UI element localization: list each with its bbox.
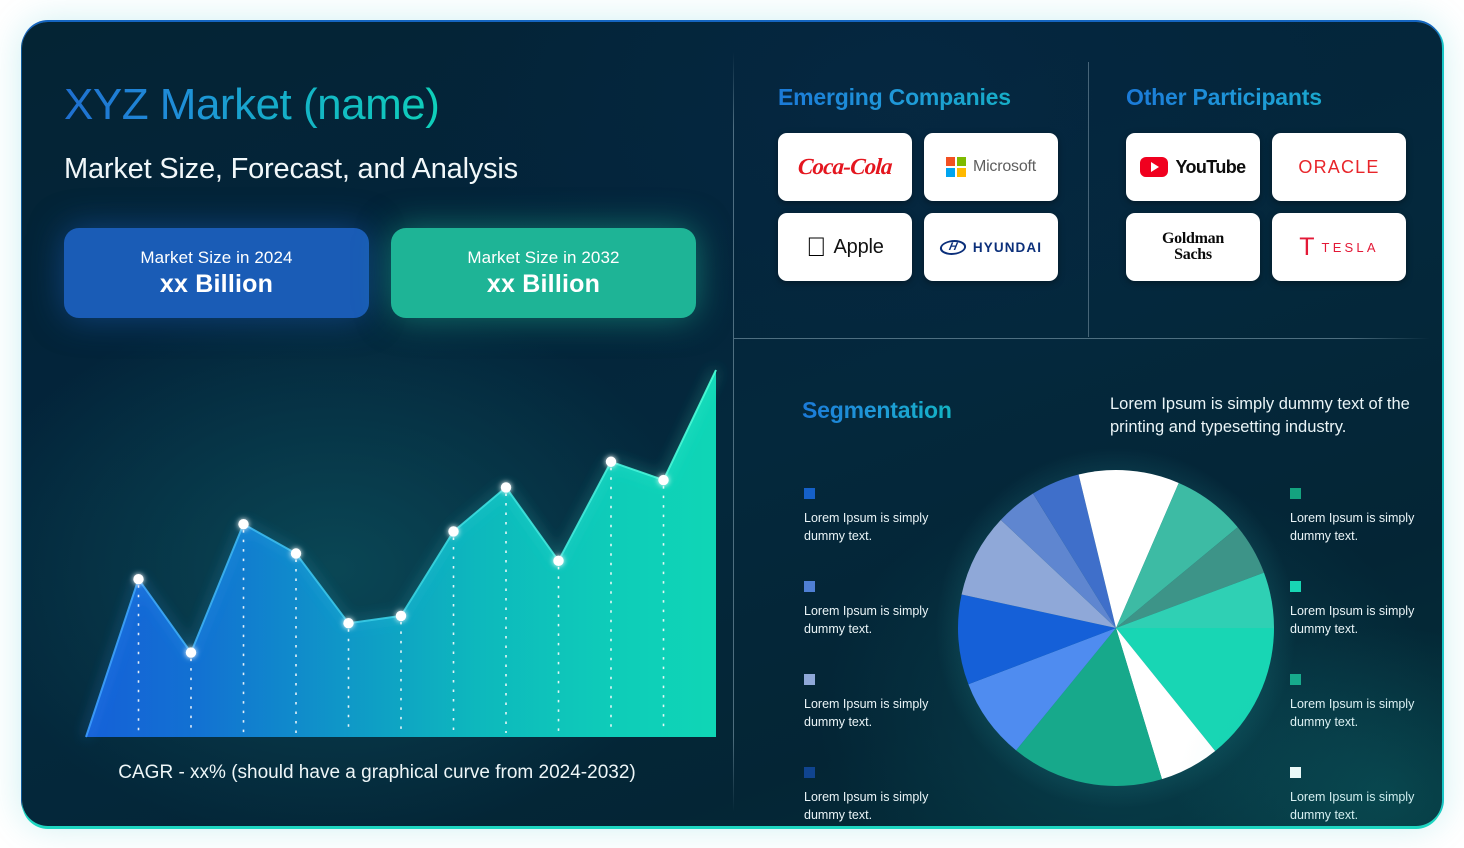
apple-label: Apple <box>834 236 884 259</box>
data-point-marker <box>658 475 668 485</box>
market-size-2024-label: Market Size in 2024 <box>140 248 292 268</box>
hyundai-logo: H <box>938 240 967 255</box>
legend-label: Lorem Ipsum is simply dummy text. <box>804 790 928 822</box>
page-title: XYZ Market (name) <box>64 80 439 130</box>
legend-label: Lorem Ipsum is simply dummy text. <box>1290 604 1414 636</box>
legend-item[interactable]: Lorem Ipsum is simply dummy text. <box>804 581 944 638</box>
youtube-label: YouTube <box>1175 157 1245 178</box>
logo-card-tesla[interactable]: T TESLA <box>1272 213 1406 281</box>
market-size-2032-card[interactable]: Market Size in 2032 xx Billion <box>391 228 696 318</box>
page-subtitle: Market Size, Forecast, and Analysis <box>64 153 518 186</box>
logo-card-youtube[interactable]: YouTube <box>1126 133 1260 201</box>
legend-swatch <box>804 581 815 592</box>
data-point-marker <box>396 611 406 621</box>
infographic-page: XYZ Market (name) Market Size, Forecast,… <box>0 0 1464 848</box>
legend-swatch <box>804 767 815 778</box>
legend-swatch <box>1290 767 1301 778</box>
logo-card-apple[interactable]:  Apple <box>778 213 912 281</box>
market-size-2032-label: Market Size in 2032 <box>467 248 619 268</box>
pie-chart-svg <box>956 468 1276 788</box>
data-point-marker <box>501 482 511 492</box>
emerging-companies-title: Emerging Companies <box>778 84 1058 111</box>
tesla-label: TESLA <box>1322 240 1379 255</box>
market-size-pills: Market Size in 2024 xx Billion Market Si… <box>64 228 696 318</box>
data-point-marker <box>606 457 616 467</box>
oracle-logo: ORACLE <box>1298 157 1379 178</box>
legend-label: Lorem Ipsum is simply dummy text. <box>1290 511 1414 543</box>
market-growth-area-chart <box>22 352 733 752</box>
legend-label: Lorem Ipsum is simply dummy text. <box>804 697 928 729</box>
legend-swatch <box>804 488 815 499</box>
main-panel: XYZ Market (name) Market Size, Forecast,… <box>22 22 1442 826</box>
data-point-marker <box>186 647 196 657</box>
goldman-sachs-logo: GoldmanSachs <box>1162 231 1224 262</box>
youtube-logo <box>1140 157 1168 177</box>
segmentation-legend-left: Lorem Ipsum is simply dummy text.Lorem I… <box>804 488 944 826</box>
cagr-caption: CAGR - xx% (should have a graphical curv… <box>82 760 672 786</box>
legend-item[interactable]: Lorem Ipsum is simply dummy text. <box>804 488 944 545</box>
data-point-marker <box>343 618 353 628</box>
apple-logo:  <box>806 234 826 261</box>
legend-swatch <box>804 674 815 685</box>
legend-item[interactable]: Lorem Ipsum is simply dummy text. <box>1290 488 1430 545</box>
emerging-companies-grid: Coca-Cola Microsoft  Apple H HYUNDAI <box>778 133 1058 281</box>
legend-item[interactable]: Lorem Ipsum is simply dummy text. <box>1290 581 1430 638</box>
legend-item[interactable]: Lorem Ipsum is simply dummy text. <box>804 674 944 731</box>
other-participants-section: Other Participants YouTube ORACLE Goldma… <box>1126 84 1406 281</box>
legend-item[interactable]: Lorem Ipsum is simply dummy text. <box>1290 767 1430 824</box>
logo-card-coca-cola[interactable]: Coca-Cola <box>778 133 912 201</box>
logo-card-goldman-sachs[interactable]: GoldmanSachs <box>1126 213 1260 281</box>
emerging-companies-section: Emerging Companies Coca-Cola Microsoft … <box>778 84 1058 281</box>
other-participants-title: Other Participants <box>1126 84 1406 111</box>
segmentation-description: Lorem Ipsum is simply dummy text of the … <box>1110 393 1442 439</box>
market-size-2024-card[interactable]: Market Size in 2024 xx Billion <box>64 228 369 318</box>
logo-card-microsoft[interactable]: Microsoft <box>924 133 1058 201</box>
coca-cola-logo: Coca-Cola <box>797 154 893 180</box>
other-participants-grid: YouTube ORACLE GoldmanSachs T TESLA <box>1126 133 1406 281</box>
vertical-divider-logos <box>1088 62 1089 337</box>
legend-label: Lorem Ipsum is simply dummy text. <box>804 604 928 636</box>
legend-label: Lorem Ipsum is simply dummy text. <box>1290 790 1414 822</box>
area-fill <box>86 370 716 737</box>
segmentation-title: Segmentation <box>802 397 952 424</box>
market-size-2032-value: xx Billion <box>487 270 600 299</box>
legend-item[interactable]: Lorem Ipsum is simply dummy text. <box>1290 674 1430 731</box>
legend-label: Lorem Ipsum is simply dummy text. <box>804 511 928 543</box>
segmentation-pie-chart <box>956 468 1276 788</box>
data-point-marker <box>133 574 143 584</box>
logo-card-oracle[interactable]: ORACLE <box>1272 133 1406 201</box>
left-column: XYZ Market (name) Market Size, Forecast,… <box>22 22 733 826</box>
microsoft-logo <box>946 157 966 177</box>
horizontal-divider <box>734 338 1430 339</box>
data-point-marker <box>291 548 301 558</box>
data-point-marker <box>448 526 458 536</box>
logo-card-hyundai[interactable]: H HYUNDAI <box>924 213 1058 281</box>
microsoft-label: Microsoft <box>973 158 1036 176</box>
segmentation-legend-right: Lorem Ipsum is simply dummy text.Lorem I… <box>1290 488 1430 826</box>
tesla-logo: T <box>1299 237 1314 257</box>
area-chart-svg <box>22 352 733 752</box>
hyundai-label: HYUNDAI <box>973 240 1042 255</box>
segmentation-section: Segmentation Lorem Ipsum is simply dummy… <box>734 352 1430 826</box>
legend-item[interactable]: Lorem Ipsum is simply dummy text. <box>804 767 944 824</box>
legend-swatch <box>1290 488 1301 499</box>
market-size-2024-value: xx Billion <box>160 270 273 299</box>
data-point-marker <box>553 556 563 566</box>
data-point-marker <box>238 519 248 529</box>
legend-label: Lorem Ipsum is simply dummy text. <box>1290 697 1414 729</box>
